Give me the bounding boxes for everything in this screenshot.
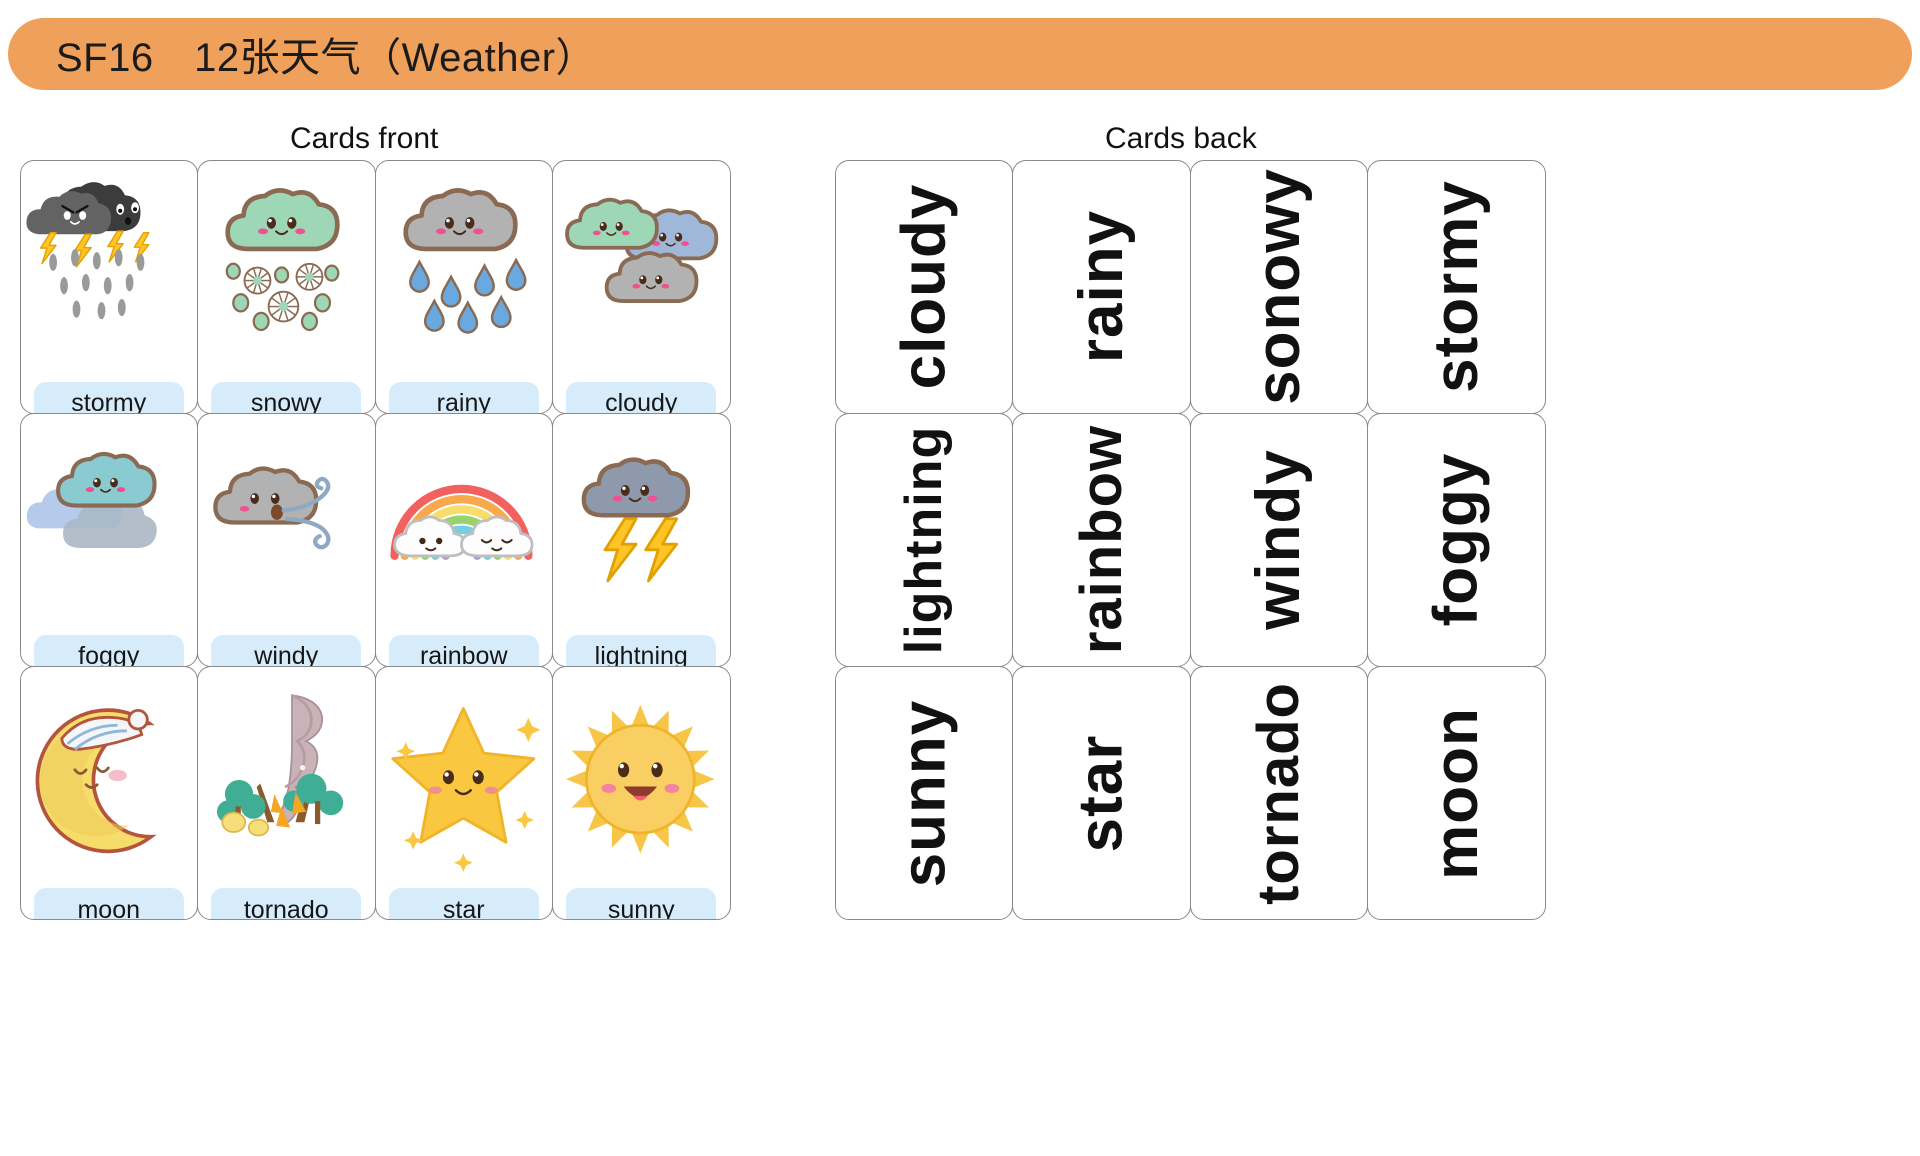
front-card-sunny[interactable]: sunny	[552, 666, 731, 920]
back-card-moon[interactable]: moon	[1367, 666, 1546, 920]
back-card-word: moon	[1421, 707, 1492, 880]
back-card-word: windy	[1243, 450, 1314, 631]
front-card-label: star	[389, 888, 539, 920]
back-card-lightning[interactable]: lightning	[835, 413, 1014, 667]
two-clouds-icon	[553, 161, 730, 382]
star-icon	[376, 667, 553, 888]
back-card-sonowy[interactable]: sonowy	[1190, 160, 1369, 414]
back-card-word: sunny	[888, 700, 959, 888]
front-card-label: cloudy	[566, 382, 716, 414]
snow-cloud-icon	[198, 161, 375, 382]
rainbow-icon	[376, 414, 553, 635]
back-card-star[interactable]: star	[1012, 666, 1191, 920]
back-card-word: star	[1066, 734, 1137, 852]
back-card-word: foggy	[1421, 453, 1492, 627]
front-card-moon[interactable]: moon	[20, 666, 199, 920]
back-card-stormy[interactable]: stormy	[1367, 160, 1546, 414]
lightning-cloud-icon	[553, 414, 730, 635]
cards-back-grid: cloudyrainysonowystormylightningrainboww…	[835, 160, 1545, 920]
back-card-word: tornado	[1245, 682, 1312, 905]
back-card-rainbow[interactable]: rainbow	[1012, 413, 1191, 667]
front-card-lightning[interactable]: lightning	[552, 413, 731, 667]
front-card-label: stormy	[34, 382, 184, 414]
rain-cloud-icon	[376, 161, 553, 382]
sun-icon	[553, 667, 730, 888]
front-card-windy[interactable]: windy	[197, 413, 376, 667]
back-card-word: sonowy	[1243, 168, 1314, 405]
front-card-label: snowy	[211, 382, 361, 414]
cards-front-heading: Cards front	[290, 122, 438, 156]
front-card-snowy[interactable]: snowy	[197, 160, 376, 414]
back-card-word: cloudy	[888, 184, 959, 390]
flashcard-sheet: SF16 12张天气（Weather） Cards front Cards ba…	[0, 0, 1920, 1156]
front-card-cloudy[interactable]: cloudy	[552, 160, 731, 414]
front-card-label: sunny	[566, 888, 716, 920]
front-card-rainbow[interactable]: rainbow	[375, 413, 554, 667]
front-card-tornado[interactable]: tornado	[197, 666, 376, 920]
fog-cloud-icon	[21, 414, 198, 635]
back-card-word: lightning	[894, 426, 954, 654]
moon-icon	[21, 667, 198, 888]
front-card-label: rainy	[389, 382, 539, 414]
front-card-foggy[interactable]: foggy	[20, 413, 199, 667]
back-card-windy[interactable]: windy	[1190, 413, 1369, 667]
front-card-label: moon	[34, 888, 184, 920]
cards-front-grid: stormy snowy rainy	[20, 160, 730, 920]
front-card-label: lightning	[566, 635, 716, 667]
front-card-label: tornado	[211, 888, 361, 920]
page-title: SF16 12张天气（Weather）	[56, 25, 596, 83]
header-bar: SF16 12张天气（Weather）	[8, 18, 1912, 90]
front-card-label: windy	[211, 635, 361, 667]
back-card-foggy[interactable]: foggy	[1367, 413, 1546, 667]
front-card-star[interactable]: star	[375, 666, 554, 920]
back-card-word: rainy	[1066, 210, 1137, 363]
cards-back-heading: Cards back	[1105, 122, 1257, 156]
front-card-label: foggy	[34, 635, 184, 667]
back-card-sunny[interactable]: sunny	[835, 666, 1014, 920]
back-card-word: stormy	[1421, 180, 1492, 393]
back-card-tornado[interactable]: tornado	[1190, 666, 1369, 920]
storm-cloud-icon	[21, 161, 198, 382]
tornado-icon	[198, 667, 375, 888]
wind-cloud-icon	[198, 414, 375, 635]
back-card-rainy[interactable]: rainy	[1012, 160, 1191, 414]
front-card-rainy[interactable]: rainy	[375, 160, 554, 414]
front-card-label: rainbow	[389, 635, 539, 667]
front-card-stormy[interactable]: stormy	[20, 160, 199, 414]
back-card-cloudy[interactable]: cloudy	[835, 160, 1014, 414]
back-card-word: rainbow	[1068, 425, 1135, 654]
